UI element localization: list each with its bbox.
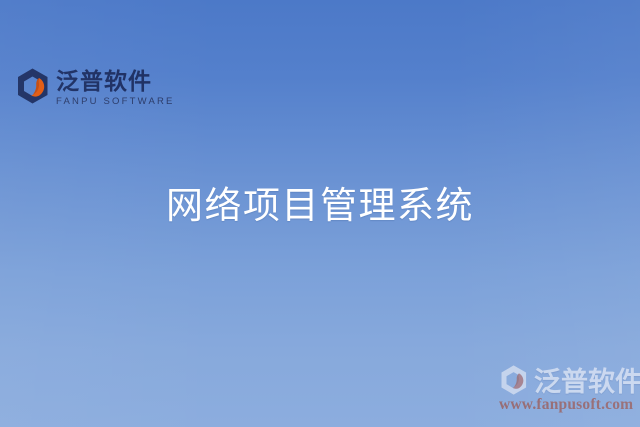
brand-name-en: FANPU SOFTWARE — [56, 97, 175, 107]
watermark-brand-row: 泛普软件 — [497, 360, 640, 399]
slide-canvas: 泛普软件 FANPU SOFTWARE 网络项目管理系统 泛普软件 www.fa… — [0, 0, 640, 427]
watermark: 泛普软件 www.fanpusoft.com — [497, 360, 640, 414]
fanpu-hexagon-logo-watermark-icon — [497, 365, 531, 395]
brand-name-cn: 泛普软件 — [56, 70, 175, 93]
watermark-url: www.fanpusoft.com — [499, 396, 633, 414]
page-title: 网络项目管理系统 — [0, 175, 640, 229]
brand-logo-lockup: 泛普软件 FANPU SOFTWARE — [17, 68, 175, 107]
watermark-name-cn: 泛普软件 — [534, 360, 640, 399]
brand-text-block: 泛普软件 FANPU SOFTWARE — [56, 68, 175, 107]
fanpu-hexagon-logo-icon — [17, 68, 49, 104]
